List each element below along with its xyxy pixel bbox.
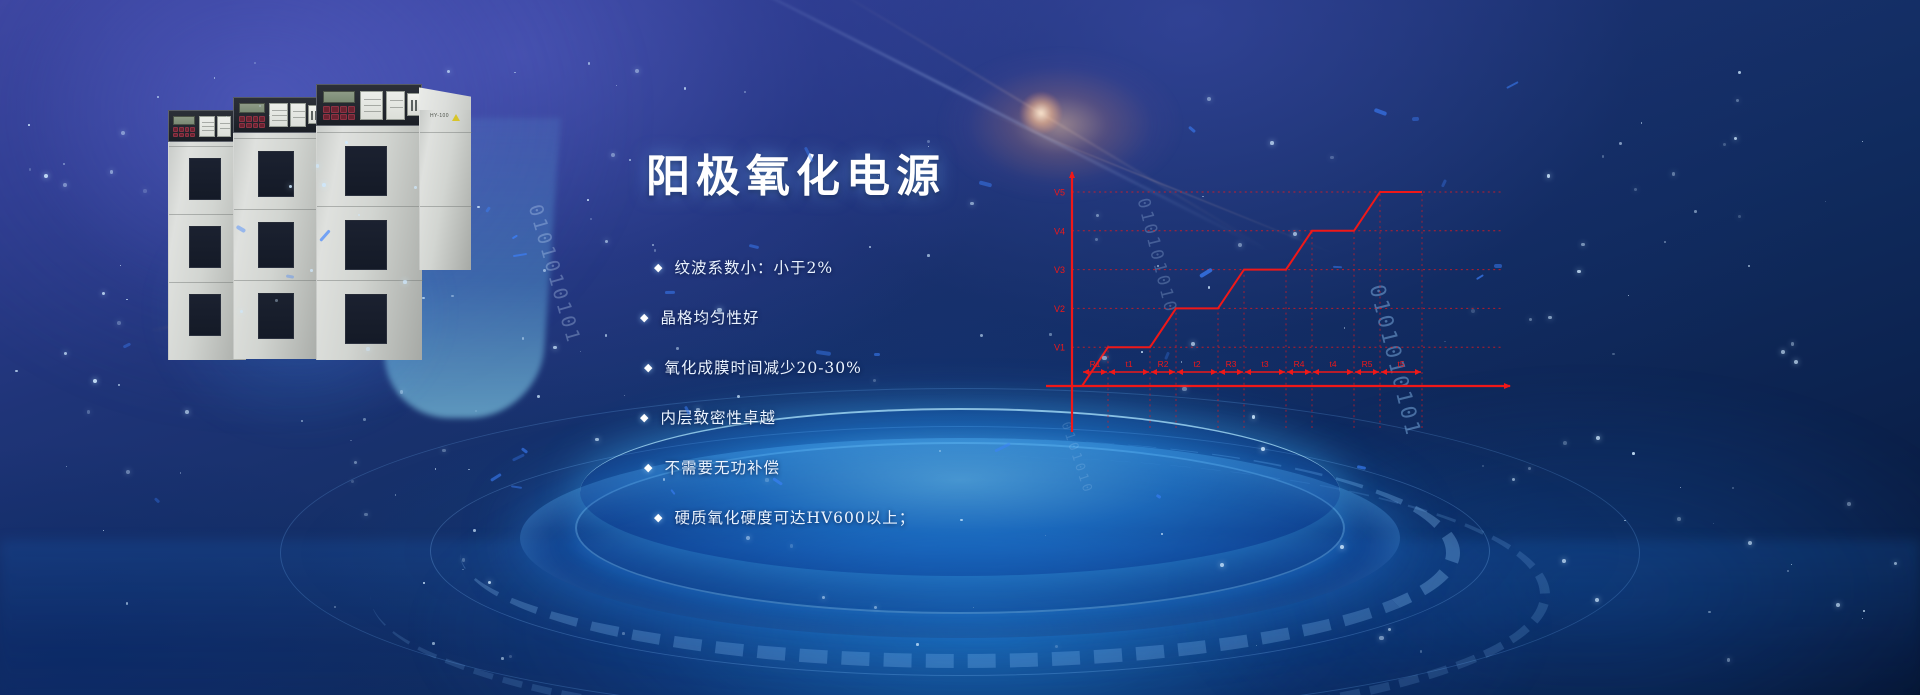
- particle-dot: [553, 346, 557, 350]
- particle-dot: [157, 96, 159, 98]
- particle-dot: [462, 569, 464, 571]
- particle-dot: [1641, 122, 1642, 123]
- particle-dot: [117, 321, 121, 325]
- segment-label: R3: [1226, 359, 1237, 369]
- particle-dot: [1577, 270, 1580, 273]
- cabinet-right-body: [316, 126, 422, 360]
- particle-dot: [103, 530, 104, 531]
- chart-segment-labels: R1t1R2t2R3t3R4t4R5t5: [1090, 359, 1405, 369]
- particle-dot: [1672, 172, 1676, 176]
- measure-arrowhead-right: [1347, 369, 1353, 375]
- particle-dot: [509, 655, 512, 658]
- particle-dot: [1732, 487, 1734, 489]
- y-tick-label: V2: [1054, 304, 1065, 314]
- particle-dot: [447, 70, 450, 73]
- lens-flare-core: [1020, 92, 1062, 134]
- cabinet-middle-body: [233, 133, 323, 359]
- particle-dot: [1723, 143, 1726, 146]
- cabinet-vent: [258, 222, 294, 268]
- chart-y-tick-labels: V1V2V3V4V5: [1054, 188, 1065, 353]
- particle-dot: [1787, 570, 1789, 572]
- particle-dot: [1220, 563, 1224, 567]
- list-item: ◆ 不需要无功补偿: [644, 456, 1280, 478]
- keypad-key[interactable]: [323, 106, 330, 113]
- particle-dot: [1619, 142, 1622, 145]
- particle-dot: [1388, 628, 1391, 631]
- particle-dot: [624, 395, 625, 396]
- particle-dot: [822, 596, 825, 599]
- particle-dot: [1547, 174, 1550, 177]
- segment-label: R4: [1294, 359, 1305, 369]
- particle-dot: [684, 87, 687, 90]
- particle-dot: [28, 124, 30, 126]
- particle-dot: [635, 69, 639, 73]
- particle-dot: [1734, 137, 1738, 141]
- particle-dot: [354, 461, 357, 464]
- particle-dot: [622, 632, 625, 635]
- particle-dot: [1894, 562, 1897, 565]
- particle-dot: [66, 466, 67, 467]
- particle-dot: [102, 292, 105, 295]
- particle-dot: [1738, 215, 1741, 218]
- particle-dot: [611, 153, 615, 157]
- particle-dot: [120, 265, 121, 266]
- keypad-key[interactable]: [259, 116, 265, 122]
- measure-arrowhead-left: [1151, 369, 1157, 375]
- particle-dot: [537, 395, 540, 398]
- particle-dot: [1694, 210, 1697, 213]
- segment-label: t4: [1329, 359, 1336, 369]
- measure-arrowhead-right: [1237, 369, 1243, 375]
- particle-dot: [1680, 487, 1682, 489]
- measure-arrowhead-left: [1287, 369, 1293, 375]
- particle-dot: [185, 410, 189, 414]
- keypad-key[interactable]: [340, 114, 347, 121]
- particle-dot: [423, 582, 424, 583]
- floor-sheen: [0, 540, 1920, 695]
- keypad-key[interactable]: [253, 123, 259, 129]
- particle-shard: [1412, 116, 1419, 120]
- particle-dot: [121, 131, 125, 135]
- cabinet-model-badge: HY-100: [430, 113, 449, 119]
- particle-dot: [1794, 360, 1798, 364]
- particle-dot: [973, 607, 974, 608]
- particle-dot: [126, 602, 129, 605]
- y-tick-label: V1: [1054, 343, 1065, 353]
- cabinet-right-label-plate: [360, 91, 383, 120]
- particle-dot: [514, 72, 516, 74]
- particle-dot: [126, 299, 128, 301]
- keypad-key[interactable]: [185, 133, 190, 138]
- cabinet-middle[interactable]: [233, 97, 323, 359]
- keypad-key[interactable]: [179, 133, 184, 138]
- particle-dot: [1736, 99, 1739, 102]
- segment-label: t3: [1261, 359, 1268, 369]
- particle-dot: [590, 218, 592, 220]
- particle-dot: [1595, 598, 1599, 602]
- particle-dot: [488, 581, 491, 584]
- particle-dot: [587, 199, 589, 201]
- machine-group[interactable]: HY-100: [168, 84, 498, 394]
- measure-arrowhead-left: [1219, 369, 1225, 375]
- keypad-key[interactable]: [190, 133, 195, 138]
- keypad-key[interactable]: [239, 123, 245, 129]
- waveform-line: [1072, 192, 1422, 386]
- cabinet-vent: [189, 294, 221, 336]
- keypad-key[interactable]: [173, 133, 178, 138]
- list-item-label: 硬质氧化硬度可达HV600以上；: [674, 506, 915, 528]
- particle-dot: [1836, 603, 1840, 607]
- banner-stage: HY-100 0101010101 010101010 0101010101 0…: [0, 0, 1920, 695]
- particle-dot: [1612, 353, 1614, 355]
- keypad-key[interactable]: [239, 116, 245, 122]
- measure-arrowhead-right: [1373, 369, 1379, 375]
- particle-dot: [93, 379, 97, 383]
- particle-dot: [180, 472, 181, 473]
- particle-dot: [1863, 610, 1865, 612]
- particle-dot: [63, 163, 65, 165]
- particle-shard: [511, 485, 522, 489]
- keypad-key[interactable]: [259, 123, 265, 129]
- particle-dot: [350, 440, 351, 441]
- particle-dot: [1628, 295, 1629, 296]
- measure-arrowhead-right: [1211, 369, 1217, 375]
- list-item-label: 纹波系数小：小于2%: [674, 256, 833, 278]
- particle-dot: [1738, 71, 1741, 74]
- particle-dot: [1664, 241, 1666, 243]
- measure-arrowhead-left: [1245, 369, 1251, 375]
- particle-dot: [363, 418, 366, 421]
- keypad-key[interactable]: [173, 127, 178, 132]
- cabinet-right-keypad[interactable]: [323, 106, 355, 120]
- chart-axes: [1046, 172, 1510, 432]
- measure-arrowhead-left: [1109, 369, 1115, 375]
- particle-dot: [462, 558, 465, 561]
- diamond-bullet-icon: ◆: [644, 462, 653, 473]
- diamond-bullet-icon: ◆: [640, 312, 649, 323]
- chart-waveform-series: [1072, 192, 1422, 386]
- particle-dot: [1632, 452, 1635, 455]
- segment-label: t5: [1397, 359, 1404, 369]
- particle-shard: [1506, 81, 1519, 89]
- list-item-label: 内层致密性卓越: [660, 406, 776, 428]
- particle-dot: [126, 470, 130, 474]
- particle-shard: [1373, 107, 1387, 115]
- particle-dot: [1624, 520, 1626, 522]
- particle-dot: [1727, 658, 1730, 661]
- cabinet-vent: [345, 294, 387, 344]
- particle-dot: [364, 513, 368, 517]
- particle-dot: [301, 420, 303, 422]
- particle-shard: [521, 447, 528, 454]
- particle-dot: [334, 606, 336, 608]
- y-tick-label: V3: [1054, 265, 1065, 275]
- cabinet-left-info-plate: [217, 116, 231, 137]
- particle-shard: [1357, 465, 1366, 469]
- cabinet-middle-keypad[interactable]: [239, 116, 265, 128]
- particle-dot: [1825, 201, 1827, 203]
- particle-dot: [1581, 243, 1584, 246]
- particle-dot: [916, 643, 918, 645]
- keypad-key[interactable]: [348, 106, 355, 113]
- particle-dot: [1677, 517, 1681, 521]
- particle-dot: [1791, 342, 1794, 345]
- diamond-bullet-icon: ◆: [654, 262, 663, 273]
- particle-dot: [1340, 545, 1344, 549]
- particle-dot: [1781, 350, 1785, 354]
- particle-dot: [214, 77, 216, 79]
- keypad-key[interactable]: [185, 127, 190, 132]
- measure-arrowhead-left: [1083, 369, 1089, 375]
- measure-arrowhead-right: [1305, 369, 1311, 375]
- particle-dot: [63, 183, 67, 187]
- diamond-bullet-icon: ◆: [640, 412, 649, 423]
- particle-dot: [87, 410, 90, 413]
- particle-dot: [1512, 478, 1515, 481]
- keypad-key[interactable]: [179, 127, 184, 132]
- y-tick-label: V4: [1054, 226, 1065, 236]
- chart-vertical-gridlines: [1108, 190, 1422, 428]
- particle-dot: [1548, 316, 1551, 319]
- list-item-label: 不需要无功补偿: [664, 456, 780, 478]
- light-streak: [1180, 0, 1583, 1]
- particle-dot: [1847, 502, 1851, 506]
- particle-dot: [1379, 636, 1383, 640]
- cabinet-right-info-plate: [386, 91, 405, 120]
- particle-dot: [1562, 559, 1566, 563]
- segment-label: R1: [1090, 359, 1101, 369]
- list-item: ◆ 硬质氧化硬度可达HV600以上；: [654, 506, 1280, 528]
- particle-dot: [874, 606, 878, 610]
- segment-label: t2: [1193, 359, 1200, 369]
- cabinet-left-lcd: [173, 116, 195, 125]
- particle-shard: [1188, 126, 1196, 134]
- particle-dot: [595, 438, 598, 441]
- particle-dot: [254, 62, 256, 64]
- particle-dot: [395, 494, 397, 496]
- measure-arrowhead-right: [1143, 369, 1149, 375]
- measure-arrowhead-right: [1415, 369, 1421, 375]
- particle-dot: [580, 351, 581, 352]
- particle-dot: [110, 170, 113, 173]
- waveform-chart-svg: V1V2V3V4V5 R1t1R2t2R3t3R4t4R5t5: [1010, 150, 1530, 440]
- list-item-label: 氧化成膜时间减少20-30%: [664, 356, 861, 378]
- particle-dot: [1862, 141, 1863, 142]
- measure-arrowhead-right: [1169, 369, 1175, 375]
- particle-dot: [118, 384, 119, 385]
- keypad-key[interactable]: [323, 114, 330, 121]
- cabinet-left-label-plate: [199, 116, 215, 137]
- keypad-key[interactable]: [253, 116, 259, 122]
- cabinet-vent: [189, 158, 221, 200]
- particle-dot: [1420, 650, 1422, 652]
- cabinet-vent: [258, 293, 294, 339]
- particle-dot: [1862, 618, 1863, 619]
- measure-arrowhead-left: [1313, 369, 1319, 375]
- particle-dot: [629, 159, 630, 160]
- particle-dot: [1713, 523, 1714, 524]
- particle-dot: [1563, 441, 1567, 445]
- particle-dot: [1708, 611, 1711, 614]
- particle-dot: [468, 469, 469, 470]
- cabinet-right[interactable]: [316, 84, 422, 360]
- chart-measure-arrows: [1083, 369, 1421, 375]
- particle-dot: [64, 352, 67, 355]
- keypad-key[interactable]: [340, 106, 347, 113]
- diamond-bullet-icon: ◆: [654, 512, 663, 523]
- cabinet-vent: [189, 226, 221, 268]
- measure-arrowhead-left: [1381, 369, 1387, 375]
- keypad-key[interactable]: [348, 114, 355, 121]
- measure-arrowhead-left: [1355, 369, 1361, 375]
- measure-arrowhead-right: [1101, 369, 1107, 375]
- waveform-chart: V1V2V3V4V5 R1t1R2t2R3t3R4t4R5t5: [1010, 150, 1530, 440]
- keypad-key[interactable]: [331, 114, 338, 121]
- cabinet-side-panel: HY-100: [419, 110, 471, 270]
- particle-dot: [29, 168, 31, 170]
- particle-dot: [1528, 467, 1531, 470]
- cabinet-middle-label-plate: [269, 103, 288, 127]
- particle-dot: [1602, 155, 1604, 157]
- cabinet-middle-lcd: [239, 103, 265, 113]
- particle-dot: [1055, 645, 1058, 648]
- cabinet-right-lcd: [323, 91, 355, 103]
- cabinet-vent: [345, 220, 387, 270]
- particle-dot: [1634, 188, 1637, 191]
- particle-dot: [588, 62, 590, 64]
- particle-dot: [605, 240, 608, 243]
- list-item-label: 晶格均匀性好: [660, 306, 759, 328]
- particle-dot: [44, 174, 48, 178]
- measure-arrowhead-right: [1279, 369, 1285, 375]
- segment-label: R5: [1362, 359, 1373, 369]
- particle-shard: [154, 497, 161, 504]
- particle-dot: [143, 189, 147, 193]
- particle-dot: [616, 85, 617, 86]
- particle-dot: [1748, 541, 1752, 545]
- cabinet-middle-info-plate: [290, 103, 306, 127]
- particle-shard: [491, 473, 502, 482]
- cabinet-left-keypad[interactable]: [173, 127, 195, 137]
- particle-dot: [1482, 465, 1484, 467]
- particle-dot: [605, 334, 607, 336]
- keypad-key[interactable]: [246, 116, 252, 122]
- cabinet-vent: [258, 151, 294, 197]
- keypad-key[interactable]: [246, 123, 252, 129]
- particle-shard: [123, 343, 132, 349]
- particle-dot: [1596, 436, 1600, 440]
- particle-dot: [432, 642, 435, 645]
- cabinet-vent: [345, 146, 387, 196]
- particle-dot: [473, 529, 476, 532]
- keypad-key[interactable]: [190, 127, 195, 132]
- particle-dot: [1256, 645, 1257, 646]
- particle-dot: [744, 91, 746, 93]
- particle-dot: [442, 449, 446, 453]
- diamond-bullet-icon: ◆: [644, 362, 653, 373]
- particle-shard: [512, 454, 525, 463]
- particle-dot: [1207, 97, 1211, 101]
- keypad-key[interactable]: [331, 106, 338, 113]
- particle-dot: [1748, 265, 1750, 267]
- particle-dot: [15, 370, 17, 372]
- segment-label: R2: [1158, 359, 1169, 369]
- segment-label: t1: [1125, 359, 1132, 369]
- chart-gridlines: [1072, 192, 1504, 347]
- particle-dot: [435, 468, 437, 470]
- y-tick-label: V5: [1054, 188, 1065, 198]
- warning-triangle-icon: [452, 114, 460, 121]
- particle-dot: [1791, 564, 1792, 565]
- particle-dot: [501, 657, 504, 660]
- measure-arrowhead-left: [1177, 369, 1183, 375]
- particle-dot: [351, 480, 354, 483]
